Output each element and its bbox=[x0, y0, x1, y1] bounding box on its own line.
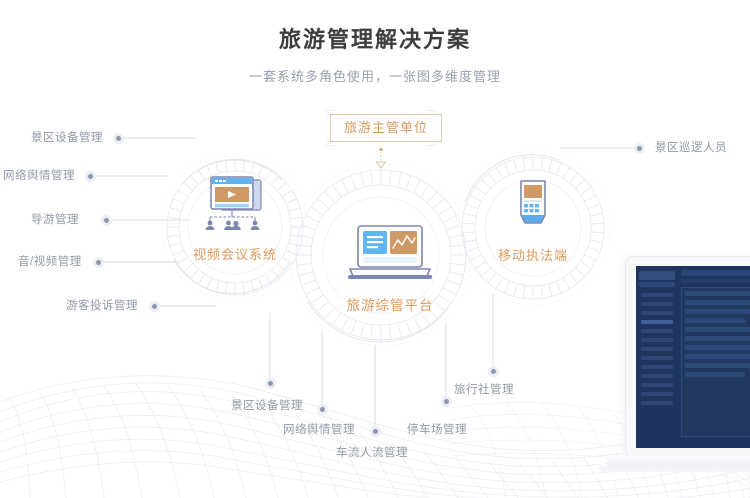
dashboard-tree-panel[interactable] bbox=[681, 287, 750, 437]
leaf-dot-left-4 bbox=[149, 301, 160, 312]
dashboard-row[interactable] bbox=[685, 291, 750, 296]
badge-down-arrow bbox=[372, 148, 390, 170]
dashboard-row[interactable] bbox=[685, 372, 745, 377]
laptop-base-shadow bbox=[599, 466, 750, 472]
leaf-label-bottom-4: 旅行社管理 bbox=[454, 385, 514, 397]
leaf-dot-bottom-2 bbox=[370, 426, 381, 437]
dashboard-menu-item[interactable] bbox=[641, 392, 673, 396]
leaf-label-left-2: 导游管理 bbox=[31, 215, 79, 227]
dashboard-row[interactable] bbox=[685, 318, 745, 323]
handheld-device-icon bbox=[510, 179, 556, 233]
laptop-mockup bbox=[625, 256, 750, 486]
dashboard-screen[interactable] bbox=[636, 266, 750, 448]
dashboard-menu-item[interactable] bbox=[641, 365, 673, 369]
dashboard-row[interactable] bbox=[685, 300, 750, 305]
dashboard-menu-item[interactable] bbox=[641, 401, 673, 405]
dashboard-menu-item[interactable] bbox=[641, 311, 673, 315]
leaf-label-left-3: 音/视频管理 bbox=[18, 257, 82, 269]
dashboard-row[interactable] bbox=[685, 354, 750, 359]
page-header: 旅游管理解决方案 一套系统多角色使用，一张图多维度管理 bbox=[0, 0, 750, 85]
page-subtitle: 一套系统多角色使用，一张图多维度管理 bbox=[0, 54, 750, 85]
dashboard-row[interactable] bbox=[685, 336, 750, 341]
node-label-video-conference: 视频会议系统 bbox=[185, 244, 285, 263]
authority-badge-wrap: 旅游主管单位 bbox=[330, 114, 442, 142]
node-label-tourism-platform: 旅游综管平台 bbox=[330, 294, 450, 314]
leaf-dot-bottom-0 bbox=[265, 378, 276, 389]
node-mobile-enforcement[interactable]: 移动执法端 bbox=[483, 179, 583, 264]
dashboard-menu-item[interactable] bbox=[641, 383, 673, 387]
dashboard-main bbox=[678, 266, 750, 448]
node-tourism-platform[interactable]: 旅游综管平台 bbox=[330, 224, 450, 314]
node-video-conference[interactable]: 视频会议系统 bbox=[185, 176, 285, 263]
leaf-label-left-1: 网络舆情管理 bbox=[3, 171, 75, 183]
leaf-label-left-0: 景区设备管理 bbox=[31, 133, 103, 145]
dashboard-menu-item[interactable] bbox=[641, 347, 673, 351]
laptop-dashboard-icon bbox=[344, 224, 436, 282]
leaf-dot-bottom-1 bbox=[317, 404, 328, 415]
dashboard-logo-sub bbox=[639, 282, 675, 287]
leaf-label-bottom-2: 车流人流管理 bbox=[336, 448, 408, 460]
dashboard-menu-item[interactable] bbox=[641, 293, 673, 297]
dashboard-menu-item-active[interactable] bbox=[641, 320, 673, 324]
leaf-dot-left-2 bbox=[101, 215, 112, 226]
node-label-mobile-enforcement: 移动执法端 bbox=[483, 245, 583, 264]
page-title: 旅游管理解决方案 bbox=[0, 0, 750, 54]
dashboard-row[interactable] bbox=[685, 327, 750, 332]
solution-diagram-page: 旅游管理解决方案 一套系统多角色使用，一张图多维度管理 bbox=[0, 0, 750, 498]
dashboard-sidebar[interactable] bbox=[636, 266, 678, 448]
dashboard-menu-item[interactable] bbox=[641, 374, 673, 378]
leaf-label-left-4: 游客投诉管理 bbox=[66, 301, 138, 313]
authority-badge[interactable]: 旅游主管单位 bbox=[330, 114, 442, 142]
video-window-users-icon bbox=[197, 176, 273, 232]
leaf-dot-left-1 bbox=[85, 171, 96, 182]
dashboard-menu-item[interactable] bbox=[641, 338, 673, 342]
dashboard-topbar bbox=[681, 270, 750, 276]
leaf-dot-bottom-3 bbox=[441, 396, 452, 407]
leaf-dot-left-0 bbox=[113, 133, 124, 144]
dashboard-row[interactable] bbox=[685, 345, 750, 350]
dashboard-row[interactable] bbox=[685, 363, 750, 368]
dashboard-tabs[interactable] bbox=[681, 279, 750, 283]
leaf-label-bottom-0: 景区设备管理 bbox=[231, 401, 303, 413]
leaf-label-bottom-1: 网络舆情管理 bbox=[283, 425, 355, 437]
leaf-dot-left-3 bbox=[93, 257, 104, 268]
leaf-label-bottom-3: 停车场管理 bbox=[407, 425, 467, 437]
leaf-dot-bottom-4 bbox=[488, 366, 499, 377]
leaf-dot-right-0 bbox=[634, 143, 645, 154]
leaf-label-right-0: 景区巡逻人员 bbox=[655, 143, 727, 155]
dashboard-logo bbox=[639, 271, 675, 280]
dashboard-row[interactable] bbox=[685, 309, 750, 314]
dashboard-menu-item[interactable] bbox=[641, 302, 673, 306]
dashboard-menu-item[interactable] bbox=[641, 356, 673, 360]
dashboard-menu-item[interactable] bbox=[641, 329, 673, 333]
